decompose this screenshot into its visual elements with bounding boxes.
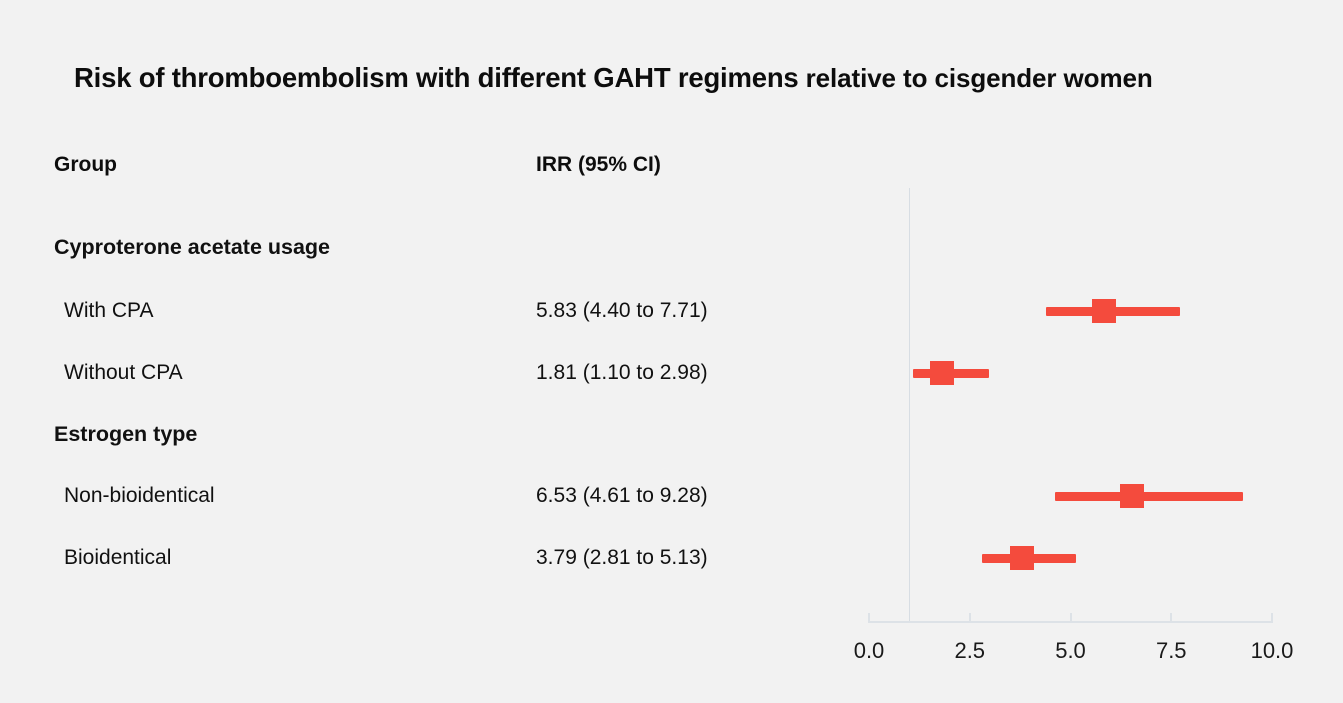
reference-line xyxy=(909,188,911,622)
x-axis-tick xyxy=(969,613,971,623)
row-estimate-value: 1.81 (1.10 to 2.98) xyxy=(536,362,708,383)
x-axis-tick-label: 7.5 xyxy=(1156,640,1187,662)
x-axis-tick xyxy=(868,613,870,623)
point-estimate-marker xyxy=(1092,299,1116,323)
column-header-group: Group xyxy=(54,154,117,175)
x-axis-line xyxy=(869,621,1272,623)
row-estimate-value: 5.83 (4.40 to 7.71) xyxy=(536,300,708,321)
x-axis-tick-label: 5.0 xyxy=(1055,640,1086,662)
x-axis-tick xyxy=(1271,613,1273,623)
forest-plot-figure: Risk of thromboembolism with different G… xyxy=(0,0,1343,703)
chart-title: Risk of thromboembolism with different G… xyxy=(74,64,1153,92)
row-label: Without CPA xyxy=(64,362,183,383)
point-estimate-marker xyxy=(1010,546,1034,570)
row-label: Non-bioidentical xyxy=(64,485,215,506)
chart-title-main: Risk of thromboembolism with different G… xyxy=(74,62,799,93)
confidence-interval-bar xyxy=(913,369,989,378)
row-estimate-value: 3.79 (2.81 to 5.13) xyxy=(536,547,708,568)
point-estimate-marker xyxy=(930,361,954,385)
confidence-interval-bar xyxy=(1046,307,1179,316)
x-axis-tick xyxy=(1070,613,1072,623)
row-label: With CPA xyxy=(64,300,153,321)
x-axis-tick-label: 10.0 xyxy=(1251,640,1294,662)
x-axis-tick-label: 0.0 xyxy=(854,640,885,662)
row-estimate-value: 6.53 (4.61 to 9.28) xyxy=(536,485,708,506)
confidence-interval-bar xyxy=(982,554,1075,563)
group-heading: Cyproterone acetate usage xyxy=(54,237,330,259)
plot-area: 0.02.55.07.510.0 xyxy=(0,0,1343,703)
point-estimate-marker xyxy=(1120,484,1144,508)
x-axis-tick xyxy=(1170,613,1172,623)
x-axis-tick-label: 2.5 xyxy=(954,640,985,662)
column-header-irr: IRR (95% CI) xyxy=(536,154,661,175)
chart-title-sub: relative to cisgender women xyxy=(799,63,1153,93)
confidence-interval-bar xyxy=(1055,492,1243,501)
row-label: Bioidentical xyxy=(64,547,171,568)
group-heading: Estrogen type xyxy=(54,424,197,446)
